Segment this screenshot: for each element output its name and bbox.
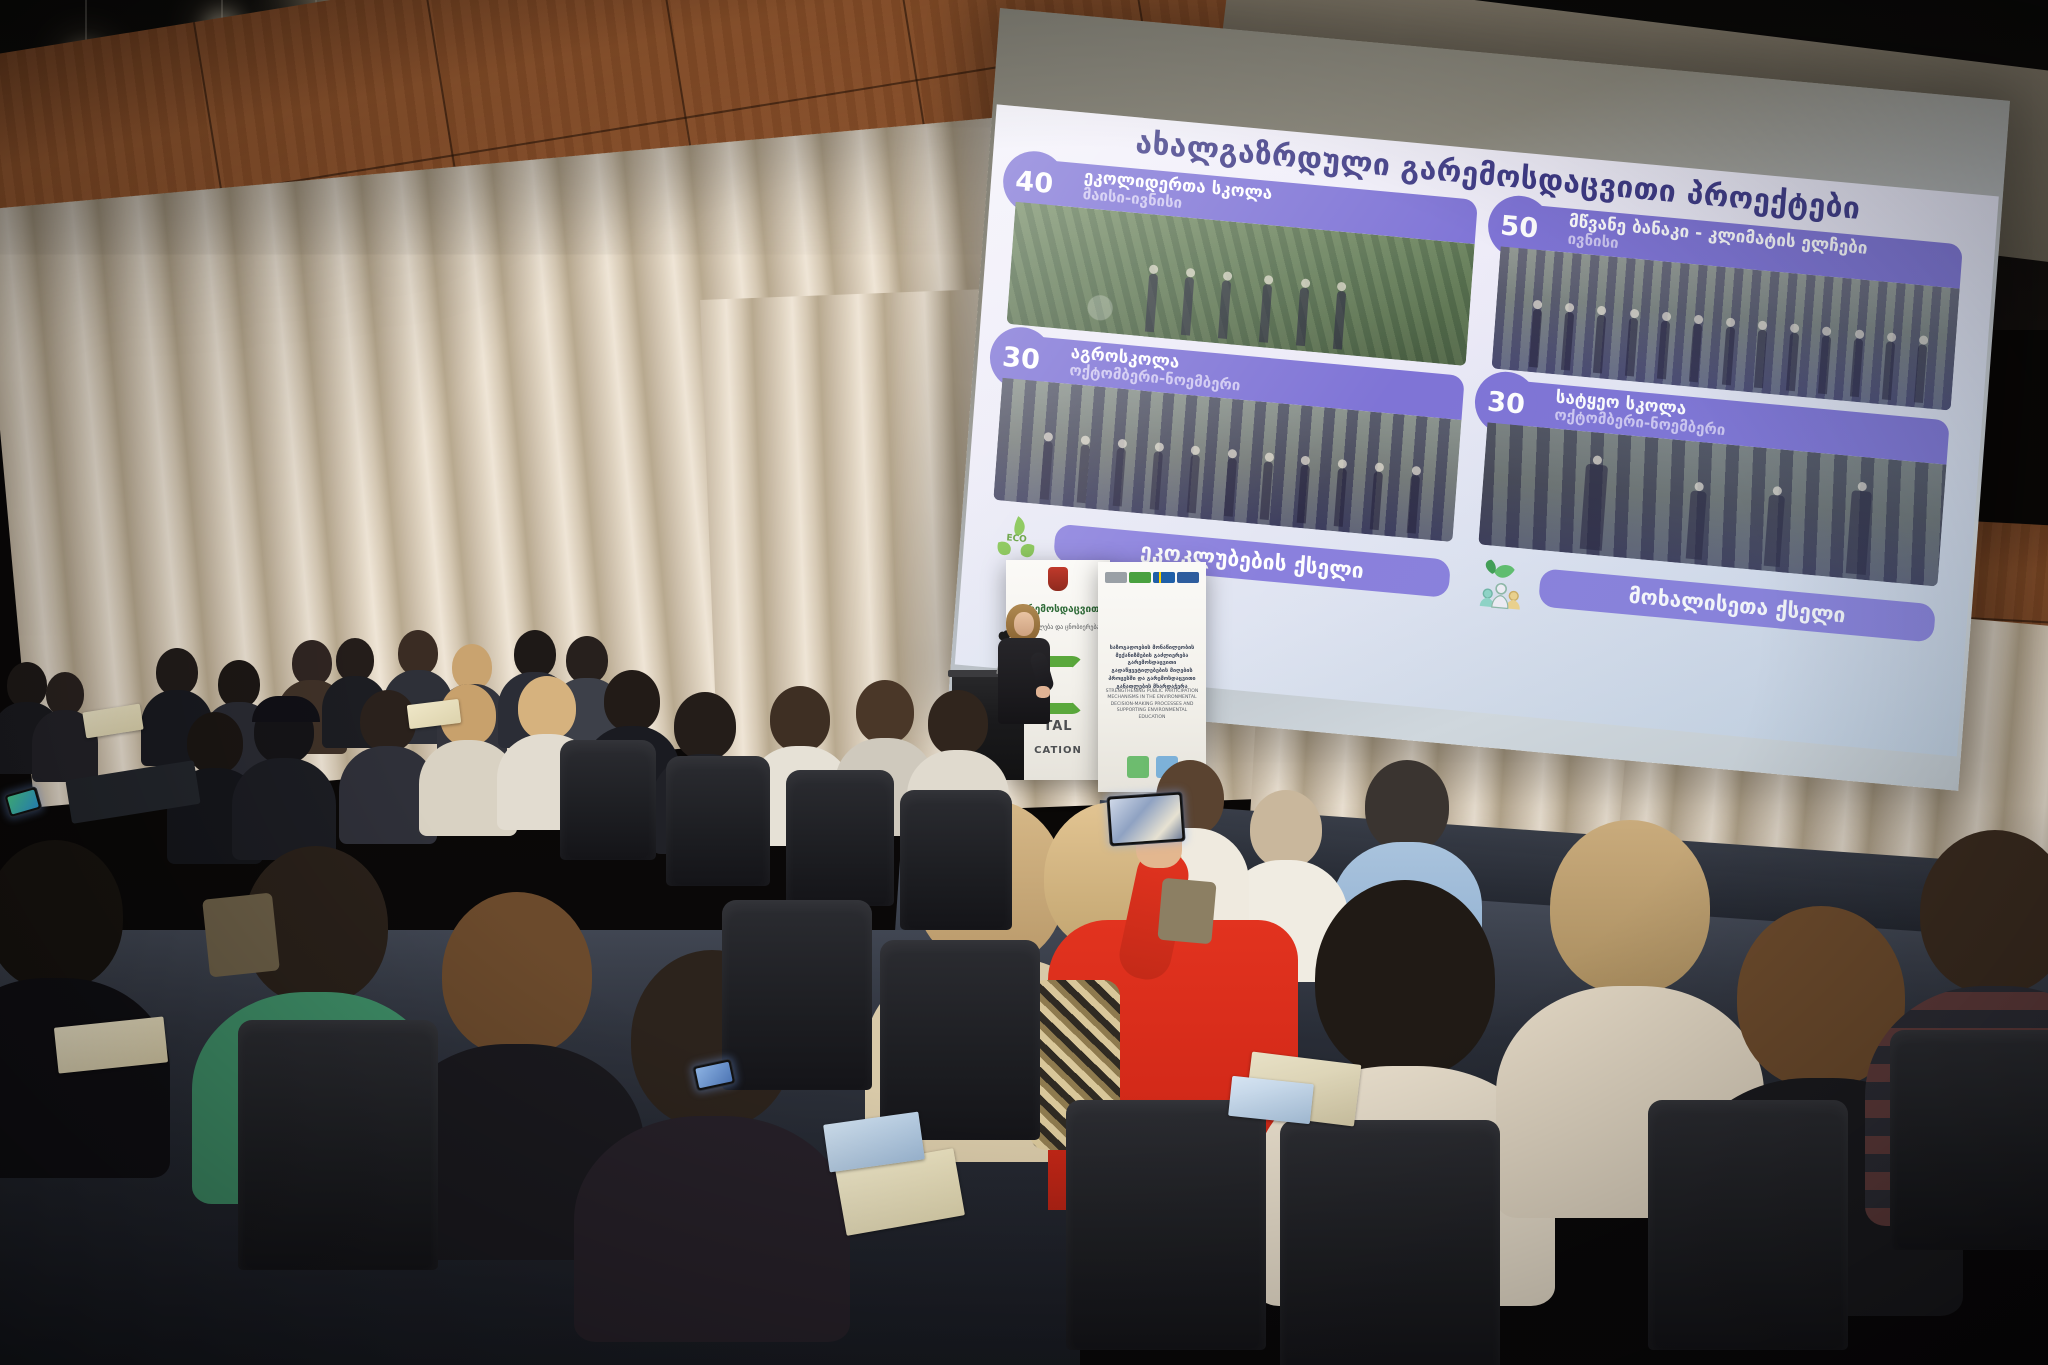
auditorium-chair — [786, 770, 894, 906]
notepad[interactable] — [82, 704, 143, 739]
handbag — [1157, 878, 1216, 944]
auditorium-chair — [1280, 1120, 1500, 1365]
audience — [0, 0, 2048, 1365]
handout-blue[interactable] — [1228, 1076, 1314, 1124]
auditorium-chair — [900, 790, 1012, 930]
handbag — [202, 893, 280, 978]
audience-member-cap — [246, 700, 322, 858]
auditorium-chair — [1066, 1100, 1266, 1350]
auditorium-chair — [1890, 1030, 2048, 1250]
auditorium-chair — [666, 756, 770, 886]
audience-member — [0, 840, 140, 1170]
conference-hall-photo: ახალგაზრდული გარემოსდაცვითი პროექტები 40… — [0, 0, 2048, 1365]
auditorium-chair — [238, 1020, 438, 1270]
auditorium-chair — [1648, 1100, 1848, 1350]
auditorium-chair — [560, 740, 656, 860]
audience-member — [40, 672, 90, 782]
smartphone[interactable] — [3, 786, 42, 818]
auditorium-chair — [722, 900, 872, 1090]
smartphone-recording[interactable] — [1106, 791, 1185, 846]
auditorium-chair — [880, 940, 1040, 1140]
